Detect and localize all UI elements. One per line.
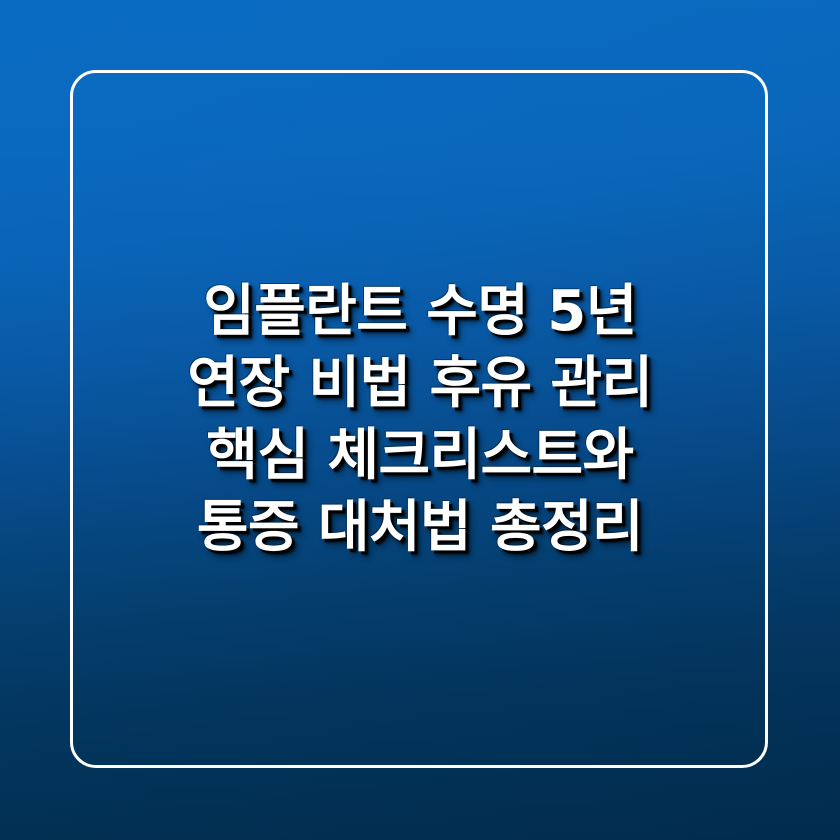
title-line-4: 통증 대처법 총정리 bbox=[197, 492, 643, 564]
title-line-2: 연장 비법 후유 관리 bbox=[187, 348, 652, 420]
title-line-3: 핵심 체크리스트와 bbox=[206, 420, 633, 492]
title-line-1: 임플란트 수명 5년 bbox=[203, 276, 637, 348]
thumbnail-canvas: 임플란트 수명 5년 연장 비법 후유 관리 핵심 체크리스트와 통증 대처법 … bbox=[0, 0, 840, 840]
title-block: 임플란트 수명 5년 연장 비법 후유 관리 핵심 체크리스트와 통증 대처법 … bbox=[0, 0, 840, 840]
